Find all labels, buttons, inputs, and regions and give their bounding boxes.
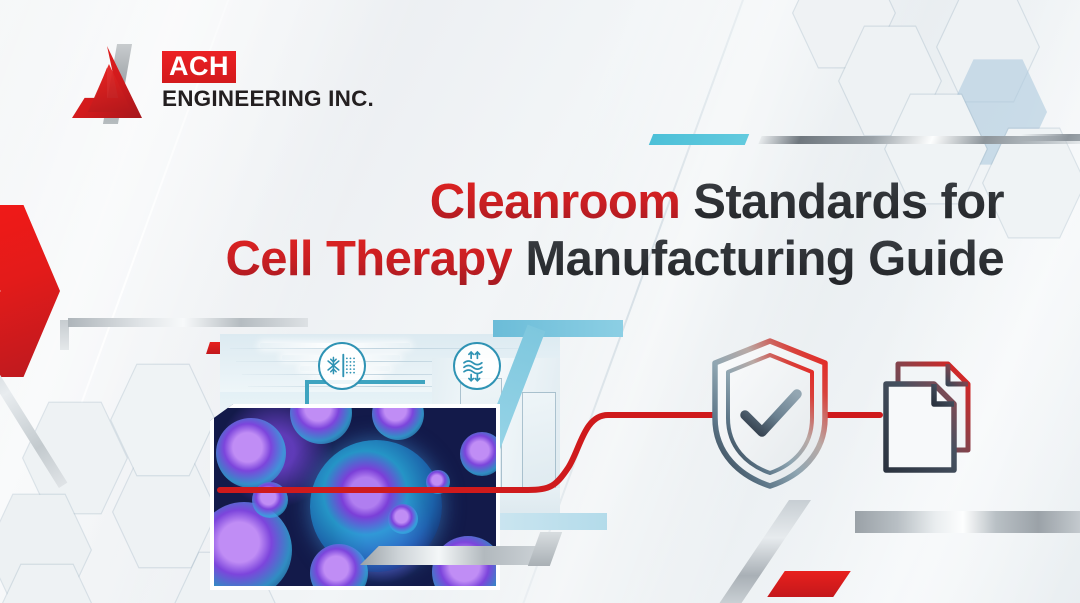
shield-check-icon [705,336,835,491]
hexagon-filled-icon [949,56,1047,168]
cyan-accent-bar [649,134,749,145]
title-rest-1: Standards for [680,175,1004,229]
title-accent-1: Cleanroom [430,175,681,229]
silver-accent-bar [758,136,1080,144]
hexagon-icon [838,22,942,140]
title-accent-2: Cell Therapy [225,232,512,286]
red-chevron-left [0,205,60,377]
page-title: Cleanroom Standards for Cell Therapy Man… [74,174,1004,289]
title-line-1: Cleanroom Standards for [74,174,1004,231]
hexagon-icon [792,0,896,72]
brand-logo[interactable]: ACH ENGINEERING INC. [70,42,374,120]
documents-icon [872,358,984,480]
title-line-2: Cell Therapy Manufacturing Guide [74,231,1004,288]
brand-name-secondary: ENGINEERING INC. [162,88,374,111]
silver-accent-bar [1019,134,1080,141]
ach-triangle-logo-icon [70,42,148,120]
brand-wordmark: ACH ENGINEERING INC. [162,51,374,110]
hexagon-icon [936,0,1040,106]
brand-name-primary: ACH [162,51,236,83]
banner-root: ACH ENGINEERING INC. Cleanroom Standards… [0,0,1080,603]
title-rest-2: Manufacturing Guide [512,232,1004,286]
silver-accent-bar [0,330,67,488]
